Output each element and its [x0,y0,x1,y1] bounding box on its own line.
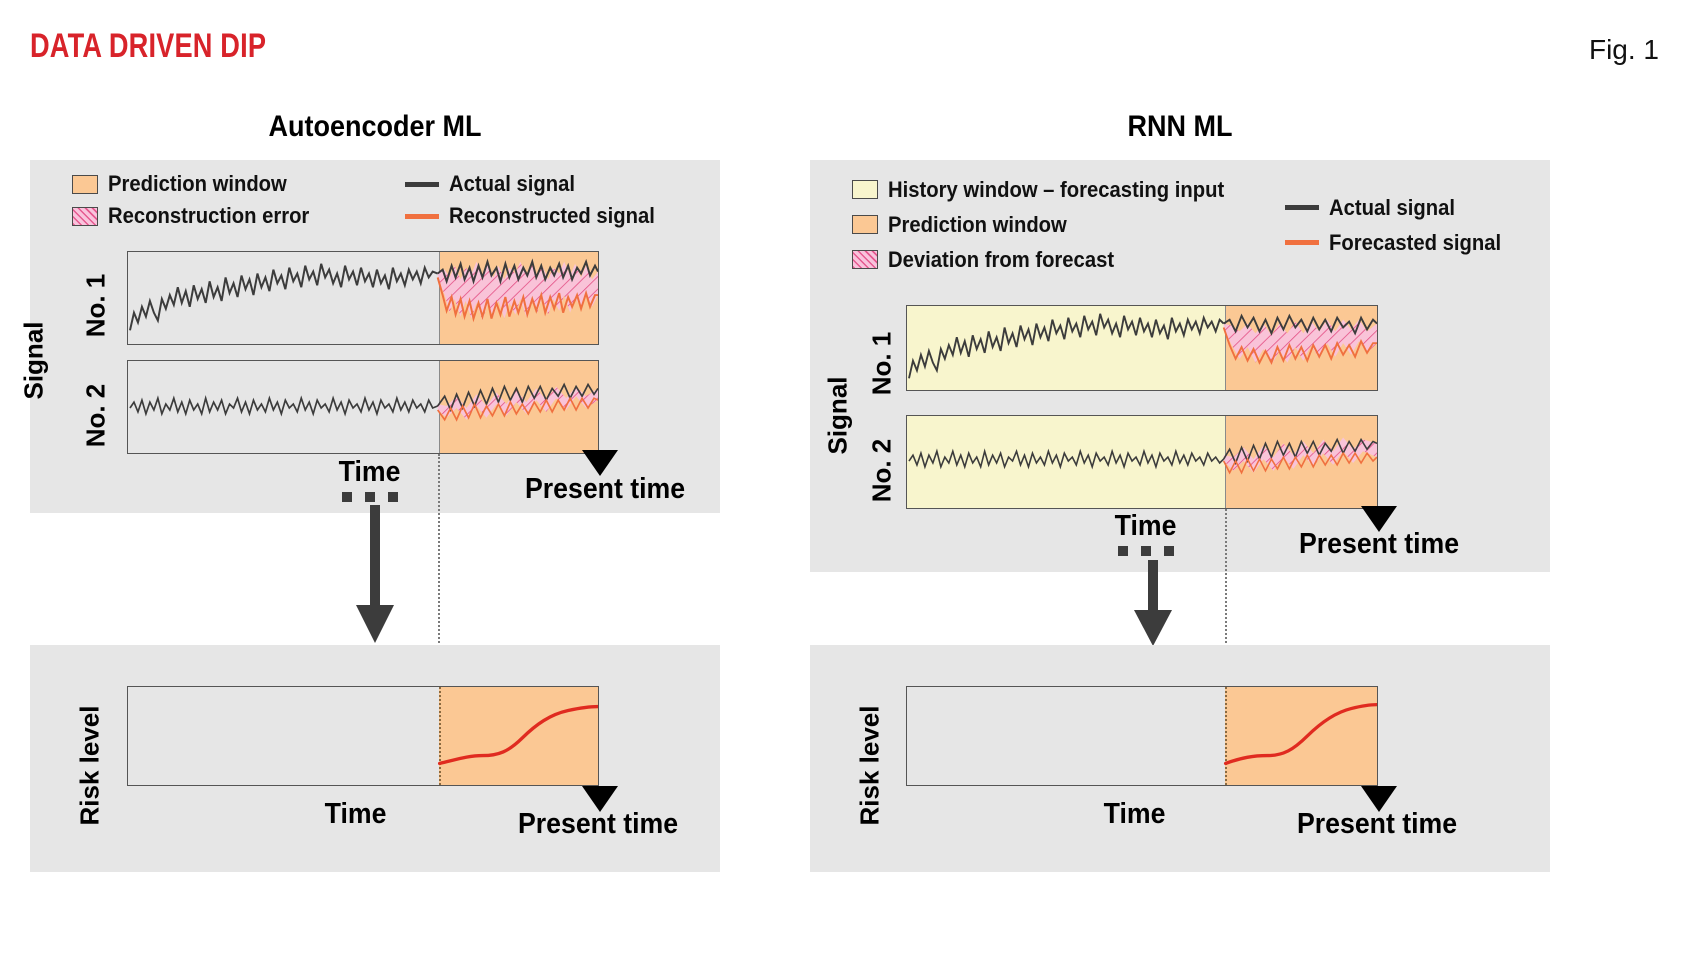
signal-no2-traces-rnn [907,416,1377,508]
present-time-marker-risk-rnn [1361,786,1397,812]
signal-chart-no1-rnn [906,305,1378,391]
signal-row-label-no2-rnn: No. 2 [867,426,898,516]
history-window-swatch-icon [852,180,878,199]
present-time-label-signal-autoencoder: Present time [525,473,685,506]
legend-label: Reconstructed signal [449,203,655,229]
signal-chart-no1-autoencoder [127,251,599,345]
signal-chart-no2-rnn [906,415,1378,509]
legend-label: Actual signal [449,171,575,197]
deviation-from-forecast-swatch-icon [852,250,878,269]
reconstruction-error-swatch-icon [72,207,98,226]
legend-item-history-window: History window – forecasting input [852,172,1253,207]
signal-axis-label-rnn: Signal [823,356,854,476]
figure-page: DATA DRIVEN DIP Fig. 1 Autoencoder ML RN… [0,0,1693,973]
legend-item-prediction-window: Prediction window [72,168,327,200]
page-title: DATA DRIVEN DIP [30,27,266,66]
time-label-signal-rnn: Time [1115,510,1177,543]
panel-heading-autoencoder: Autoencoder ML [65,110,686,144]
risk-axis-label-rnn: Risk level [855,671,886,861]
actual-signal-line-icon [405,182,439,187]
signal-no1-traces-autoencoder [128,252,598,344]
present-time-label-risk-autoencoder: Present time [518,808,678,841]
risk-axis-label-autoencoder: Risk level [75,671,106,861]
time-label-risk-rnn: Time [1104,798,1166,831]
legend-autoencoder-column-1: Prediction window Reconstruction error [72,168,327,232]
present-time-label-signal-rnn: Present time [1299,528,1459,561]
flow-arrow-rnn [1128,560,1178,648]
present-time-marker-risk-autoencoder [582,786,618,812]
risk-curve-autoencoder [128,687,598,785]
legend-item-reconstructed-signal: Reconstructed signal [405,200,673,232]
legend-label: Prediction window [108,171,287,197]
signal-row-label-no1-rnn: No. 1 [867,319,898,409]
risk-curve-rnn [907,687,1377,785]
legend-label: Deviation from forecast [888,247,1114,273]
time-continuation-dots-autoencoder [342,492,398,502]
present-time-label-risk-rnn: Present time [1297,808,1457,841]
signal-row-label-no1-autoencoder: No. 1 [81,261,112,351]
legend-item-reconstruction-error: Reconstruction error [72,200,327,232]
reconstructed-signal-line-icon [405,214,439,219]
forecasted-signal-line-icon [1285,240,1319,245]
actual-signal-line-icon [1285,205,1319,210]
legend-item-actual-signal: Actual signal [405,168,673,200]
time-label-signal-autoencoder: Time [339,456,401,489]
time-label-risk-autoencoder: Time [325,798,387,831]
signal-axis-label-autoencoder: Signal [19,301,50,421]
risk-chart-rnn [906,686,1378,786]
legend-item-prediction-window: Prediction window [852,207,1253,242]
signal-chart-no2-autoencoder [127,360,599,454]
legend-rnn-column-2: Actual signal Forecasted signal [1285,190,1516,260]
risk-chart-autoencoder [127,686,599,786]
panel-heading-rnn: RNN ML [847,110,1513,144]
signal-no2-traces-autoencoder [128,361,598,453]
legend-item-forecasted-signal: Forecasted signal [1285,225,1516,260]
present-time-marker-signal-rnn [1361,506,1397,532]
legend-label: Actual signal [1329,195,1455,221]
prediction-window-swatch-icon [72,175,98,194]
legend-label: Prediction window [888,212,1067,238]
signal-row-label-no2-autoencoder: No. 2 [81,371,112,461]
time-continuation-dots-rnn [1118,546,1174,556]
legend-item-actual-signal: Actual signal [1285,190,1516,225]
legend-rnn-column-1: History window – forecasting input Predi… [852,172,1253,277]
legend-label: Reconstruction error [108,203,309,229]
legend-label: History window – forecasting input [888,177,1224,203]
figure-number-label: Fig. 1 [1589,34,1659,66]
flow-arrow-autoencoder [350,505,400,645]
legend-item-deviation-from-forecast: Deviation from forecast [852,242,1253,277]
present-time-marker-signal-autoencoder [582,450,618,476]
legend-label: Forecasted signal [1329,230,1501,256]
legend-autoencoder-column-2: Actual signal Reconstructed signal [405,168,673,232]
signal-no1-traces-rnn [907,306,1377,390]
prediction-window-swatch-icon [852,215,878,234]
